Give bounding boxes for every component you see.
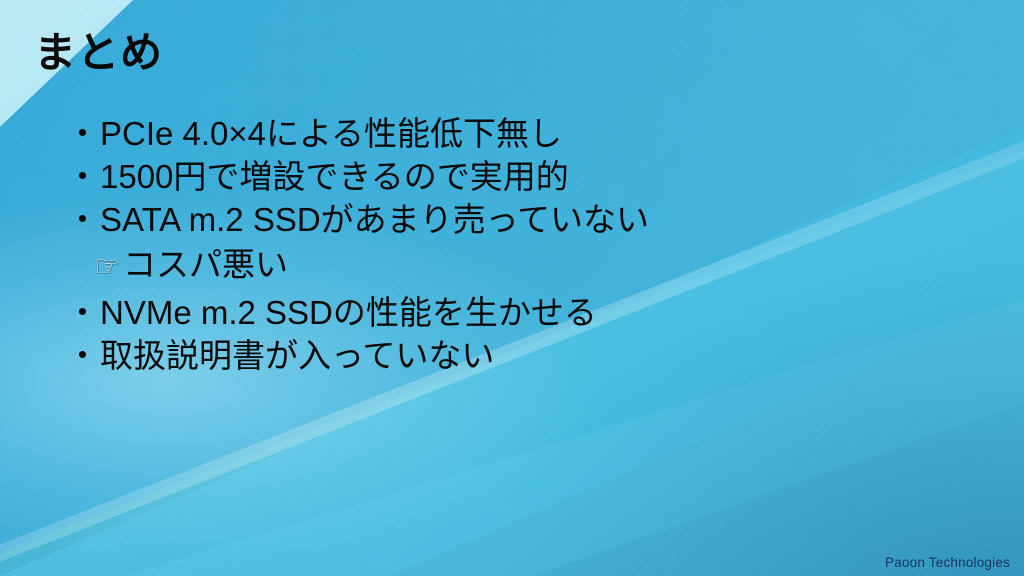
bullet-marker-dot: ・ [66,291,99,334]
bullet-text: コスパ悪い [123,243,288,286]
bullet-text: 1500円で増設できるので実用的 [100,155,569,198]
bullet-text: NVMe m.2 SSDの性能を生かせる [100,291,597,334]
presentation-slide: まとめ ・PCIe 4.0×4による性能低下無し・1500円で増設できるので実用… [0,0,1024,576]
bullet-item: ・SATA m.2 SSDがあまり売っていない [66,198,926,241]
bullet-marker-dot: ・ [66,334,99,377]
footer-brand: Paoon Technologies [885,555,1010,570]
bullet-item: ・PCIe 4.0×4による性能低下無し [66,112,926,155]
bullet-marker-dot: ・ [66,155,99,198]
pointing-hand-icon: ☞ [94,246,120,289]
bullet-text: SATA m.2 SSDがあまり売っていない [100,198,649,241]
bullet-item: ・NVMe m.2 SSDの性能を生かせる [66,291,926,334]
bullet-item: ・1500円で増設できるので実用的 [66,155,926,198]
bullet-item: ☞コスパ悪い [66,243,926,289]
slide-title: まとめ [34,29,163,76]
bullet-item: ・取扱説明書が入っていない [66,334,926,377]
bullet-marker-dot: ・ [66,112,99,155]
bullet-text: 取扱説明書が入っていない [100,334,494,377]
bullet-marker-dot: ・ [66,198,99,241]
bullet-text: PCIe 4.0×4による性能低下無し [100,112,562,155]
slide-content: まとめ ・PCIe 4.0×4による性能低下無し・1500円で増設できるので実用… [0,0,1024,576]
bullet-list: ・PCIe 4.0×4による性能低下無し・1500円で増設できるので実用的・SA… [66,112,926,377]
